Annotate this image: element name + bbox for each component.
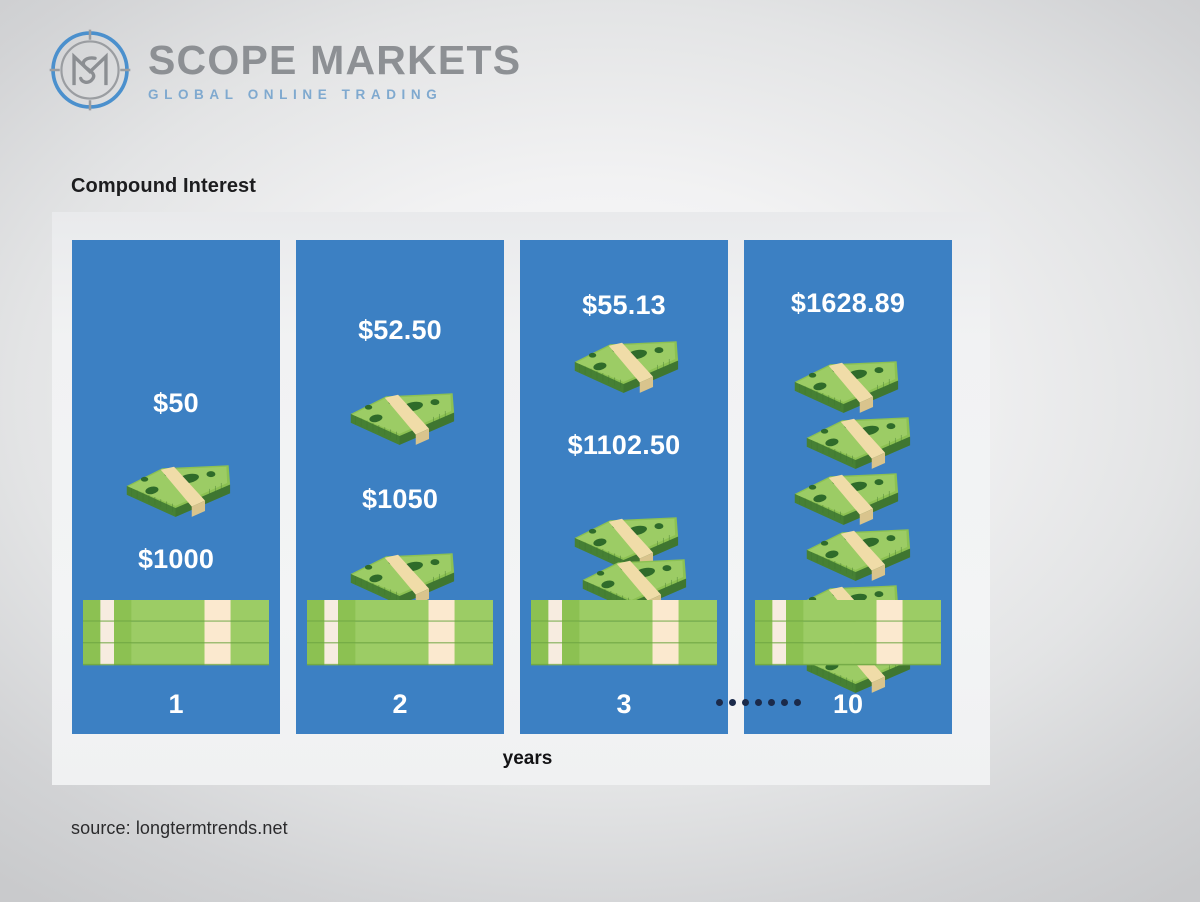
year-column-2[interactable]: $52.50$1050 [296, 240, 504, 734]
money-brick-icon [755, 600, 941, 666]
money-bundle [118, 452, 236, 526]
money-brick-icon [307, 600, 493, 666]
money-brick-icon [531, 600, 717, 666]
balance-value-label: $1000 [72, 544, 280, 575]
ellipsis-dot [794, 699, 801, 706]
brand-header: SCOPE MARKETS GLOBAL ONLINE TRADING [48, 28, 521, 112]
x-axis-label: years [0, 748, 1055, 770]
principal-base-bundle [531, 600, 717, 666]
money-bundle-icon [566, 328, 684, 402]
ellipsis-dot [781, 699, 788, 706]
money-bundle [566, 328, 684, 402]
brand-tagline: GLOBAL ONLINE TRADING [148, 88, 521, 102]
brand-name: SCOPE MARKETS [148, 40, 521, 81]
infographic-page: SCOPE MARKETS GLOBAL ONLINE TRADING Comp… [0, 0, 1200, 902]
principal-base-bundle [83, 600, 269, 666]
ellipsis-indicator [716, 699, 801, 706]
year-column-1[interactable]: $50$1000 [72, 240, 280, 734]
balance-value-label: $1102.50 [520, 430, 728, 461]
scope-markets-logo-icon [48, 28, 132, 112]
year-column-10[interactable]: $1628.89 [744, 240, 952, 734]
balance-value-label: $1050 [296, 484, 504, 515]
year-column-3[interactable]: $55.13$1102.50 [520, 240, 728, 734]
brand-wordmark: SCOPE MARKETS GLOBAL ONLINE TRADING [148, 38, 521, 102]
ellipsis-dot [729, 699, 736, 706]
year-label-3: 3 [520, 689, 728, 720]
year-columns: $50$1000 [72, 240, 952, 734]
principal-base-bundle [755, 600, 941, 666]
ellipsis-dot [768, 699, 775, 706]
chart-panel: $50$1000 [52, 212, 990, 785]
year-label-2: 2 [296, 689, 504, 720]
money-bundle-icon [342, 380, 460, 454]
money-brick-icon [83, 600, 269, 666]
principal-base-bundle [307, 600, 493, 666]
ellipsis-dot [716, 699, 723, 706]
source-label: source: longtermtrends.net [71, 818, 288, 839]
interest-value-label: $50 [72, 388, 280, 419]
year-label-1: 1 [72, 689, 280, 720]
interest-value-label: $55.13 [520, 290, 728, 321]
money-bundle [342, 380, 460, 454]
interest-value-label: $52.50 [296, 315, 504, 346]
money-bundle-icon [118, 452, 236, 526]
chart-title: Compound Interest [71, 175, 256, 198]
interest-value-label: $1628.89 [744, 288, 952, 319]
ellipsis-dot [755, 699, 762, 706]
ellipsis-dot [742, 699, 749, 706]
